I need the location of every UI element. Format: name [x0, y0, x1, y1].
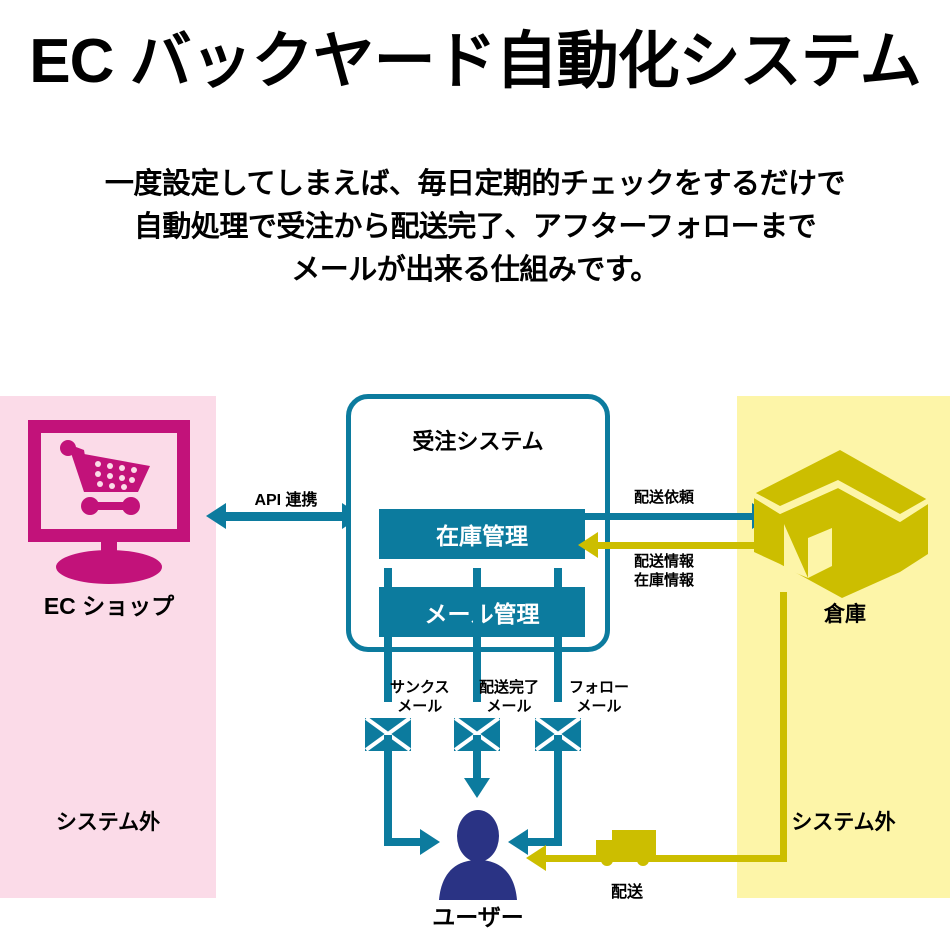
api-link-line	[226, 512, 342, 521]
delivery-info-label: 配送情報 在庫情報	[634, 552, 694, 590]
zone-right-outside-label: システム外	[737, 806, 950, 836]
thanks-mail-line-vertical-lower	[384, 735, 392, 845]
delivery-info-line-1: 配送情報	[634, 553, 694, 570]
delivery-info-line-2: 在庫情報	[634, 572, 694, 589]
delivery-label: 配送	[592, 878, 662, 902]
delivery-complete-mail-label-line-2: メール	[487, 698, 532, 715]
api-link-arrowhead-left	[206, 503, 226, 529]
delivery-request-label: 配送依頼	[634, 488, 694, 507]
delivery-complete-mail-label: 配送完了 メール	[479, 678, 539, 716]
page-title: EC バックヤード自動化システム	[0, 26, 950, 98]
delivery-complete-mail-line-vertical-lower	[473, 735, 481, 781]
api-link-label: API 連携	[236, 486, 336, 510]
follow-mail-line-vertical-lower	[554, 735, 562, 845]
delivery-info-arrowhead	[578, 532, 598, 558]
subtitle-line-2: 自動処理で受注から配送完了、アフターフォローまで	[0, 206, 950, 249]
thanks-mail-label-line-2: メール	[397, 698, 442, 715]
warehouse-label: 倉庫	[780, 598, 910, 628]
follow-mail-label: フォロー メール	[569, 678, 629, 716]
follow-mail-line-vertical	[554, 568, 562, 702]
system-diagram: システム外 システム外 EC	[0, 330, 950, 918]
thanks-mail-line-horizontal	[384, 838, 422, 846]
ec-shop-label: EC ショップ	[2, 587, 216, 621]
delivery-info-line	[598, 542, 754, 549]
thanks-mail-label: サンクス メール	[390, 678, 450, 716]
module-inventory-management[interactable]: 在庫管理	[379, 509, 585, 559]
delivery-route-arrowhead	[526, 845, 546, 871]
ec-shop-node: EC ショップ	[22, 420, 196, 610]
warehouse-icon	[750, 448, 930, 598]
zone-left-outside-label: システム外	[0, 806, 216, 836]
subtitle-line-3: メールが出来る仕組みです。	[0, 249, 950, 292]
thanks-mail-label-line-1: サンクス	[390, 679, 450, 696]
user-label: ユーザー	[408, 898, 548, 932]
delivery-truck-icon	[594, 828, 658, 870]
header-block: EC バックヤード自動化システム 一度設定してしまえば、毎日定期的チェックをする…	[0, 0, 950, 330]
user-silhouette-icon	[437, 810, 519, 900]
shopping-cart-icon	[60, 440, 154, 516]
order-system-title: 受注システム	[351, 424, 605, 456]
delivery-complete-mail-arrowhead	[464, 778, 490, 798]
monitor-stand-base	[56, 550, 162, 584]
delivery-route-line-horizontal	[546, 855, 787, 862]
page-subtitle: 一度設定してしまえば、毎日定期的チェックをするだけで 自動処理で受注から配送完了…	[0, 163, 950, 292]
delivery-complete-mail-label-line-1: 配送完了	[479, 679, 539, 696]
subtitle-line-1: 一度設定してしまえば、毎日定期的チェックをするだけで	[0, 163, 950, 206]
follow-mail-label-line-1: フォロー	[569, 679, 629, 696]
delivery-request-line	[574, 513, 754, 520]
delivery-route-line-vertical	[780, 592, 787, 862]
follow-mail-label-line-2: メール	[577, 698, 622, 715]
